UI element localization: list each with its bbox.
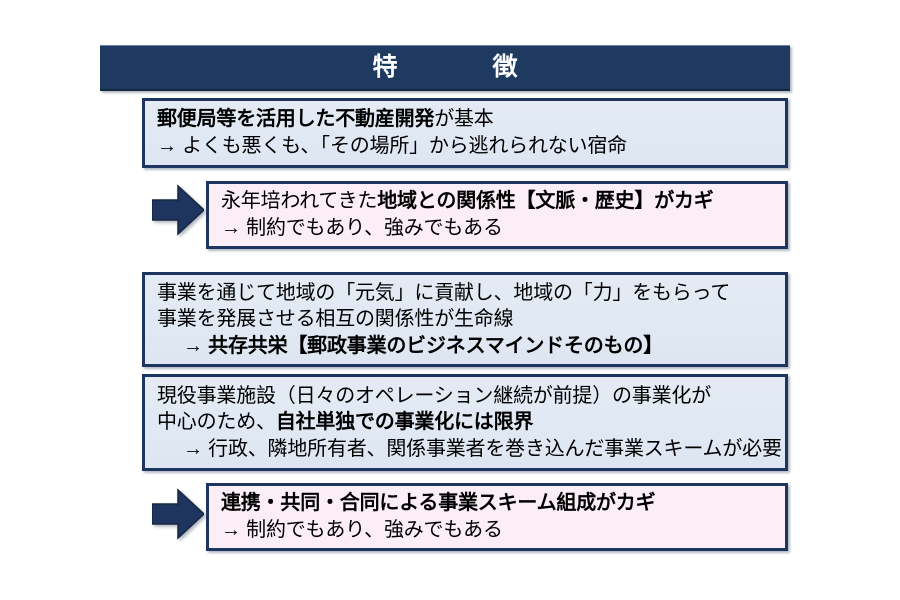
feature-box-3-line-1-text: 事業を通じて地域の「元気」に貢献し、地域の「力」をもらって [157, 282, 730, 304]
feature-box-4-line-3-text: → 行政、隣地所有者、関係事業者を巻き込んだ事業スキームが必要 [183, 438, 782, 460]
feature-box-2: 永年培われてきた地域との関係性【文脈・歴史】がカギ → 制約でもあり、強みでもあ… [206, 181, 788, 249]
feature-box-5-line-2-text: → 制約でもあり、強みでもある [221, 519, 503, 541]
feature-box-5-line-1-text: 連携・共同・合同による事業スキーム組成がカギ [221, 492, 655, 514]
feature-box-4-line-2: 中心のため、自社単独での事業化には限界 [157, 409, 775, 436]
feature-box-2-line-1: 永年培われてきた地域との関係性【文脈・歴史】がカギ [221, 188, 775, 215]
feature-box-3-line-2-text: 事業を発展させる相互の関係性が生命線 [157, 308, 513, 330]
feature-box-3-line-3-prefix: → [183, 335, 208, 357]
feature-box-4-line-2-prefix: 中心のため、 [157, 411, 276, 433]
feature-box-2-line-2: → 制約でもあり、強みでもある [221, 215, 775, 242]
feature-box-2-line-1-bold: 地域との関係性【文脈・歴史】がカギ [377, 190, 713, 212]
feature-box-4-line-1: 現役事業施設（日々のオペレーション継続が前提）の事業化が [157, 383, 775, 410]
slide-canvas: 特 徴 郵便局等を活用した不動産開発が基本 → よくも悪くも、「その場所」から逃… [0, 0, 900, 600]
feature-box-5: 連携・共同・合同による事業スキーム組成がカギ → 制約でもあり、強みでもある [206, 483, 788, 551]
feature-box-1-line-1: 郵便局等を活用した不動産開発が基本 [157, 106, 775, 133]
feature-box-3: 事業を通じて地域の「元気」に貢献し、地域の「力」をもらって 事業を発展させる相互… [142, 272, 788, 367]
feature-box-3-line-3-bold: 共存共栄【郵政事業のビジネスマインドそのもの】 [208, 335, 663, 357]
arrow-right-chevron-icon-1 [152, 182, 204, 238]
page-title: 特 徴 [357, 55, 532, 80]
feature-box-4-line-2-bold: 自社単独での事業化には限界 [276, 411, 533, 433]
feature-box-3-line-1: 事業を通じて地域の「元気」に貢献し、地域の「力」をもらって [157, 280, 775, 307]
feature-box-1-line-2: → よくも悪くも、「その場所」から逃れられない宿命 [157, 133, 775, 160]
feature-box-2-line-2-text: → 制約でもあり、強みでもある [221, 217, 503, 239]
feature-box-1-line-1-bold: 郵便局等を活用した不動産開発 [157, 108, 434, 130]
arrow-right-chevron-icon-2 [152, 486, 204, 542]
feature-box-4-line-1-text: 現役事業施設（日々のオペレーション継続が前提）の事業化が [157, 385, 711, 407]
header-bar: 特 徴 [100, 45, 790, 91]
feature-box-1-line-2-text: → よくも悪くも、「その場所」から逃れられない宿命 [157, 135, 627, 157]
feature-box-4: 現役事業施設（日々のオペレーション継続が前提）の事業化が 中心のため、自社単独で… [142, 374, 788, 471]
feature-box-5-line-2: → 制約でもあり、強みでもある [221, 517, 775, 544]
feature-box-5-line-1: 連携・共同・合同による事業スキーム組成がカギ [221, 490, 775, 517]
feature-box-3-line-3: → 共存共栄【郵政事業のビジネスマインドそのもの】 [157, 333, 775, 360]
feature-box-2-line-1-prefix: 永年培われてきた [221, 190, 377, 212]
feature-box-1: 郵便局等を活用した不動産開発が基本 → よくも悪くも、「その場所」から逃れられな… [142, 98, 788, 168]
feature-box-3-line-2: 事業を発展させる相互の関係性が生命線 [157, 306, 775, 333]
feature-box-4-line-3: → 行政、隣地所有者、関係事業者を巻き込んだ事業スキームが必要 [157, 436, 775, 463]
feature-box-1-line-1-rest: が基本 [434, 108, 493, 130]
